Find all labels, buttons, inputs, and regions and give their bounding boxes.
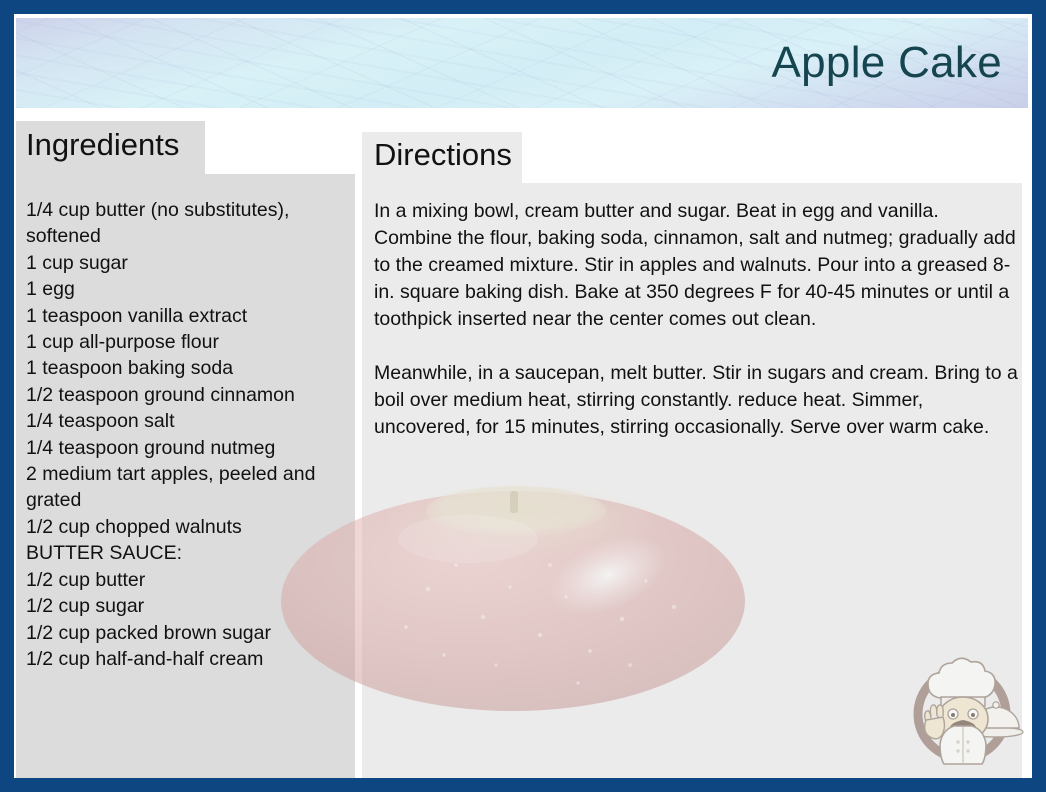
ingredient-item: 2 medium tart apples, peeled and grated [26,461,347,514]
recipe-card: Apple Cake Ingredients 1/4 cup butter (n… [0,0,1046,792]
directions-heading: Directions [374,137,512,173]
directions-panel: Directions In a mixing bowl, cream butte… [362,132,1022,792]
ingredients-header-notch [205,121,357,174]
direction-paragraph: Meanwhile, in a saucepan, melt butter. S… [374,360,1020,441]
header-banner: Apple Cake [16,18,1028,108]
ingredient-item: 1/2 cup butter [26,567,347,593]
directions-body: In a mixing bowl, cream butter and sugar… [374,198,1020,441]
directions-header-notch [522,132,1022,183]
ingredient-item: 1/2 teaspoon ground cinnamon [26,382,347,408]
ingredients-list: 1/4 cup butter (no substitutes), softene… [26,197,347,672]
ingredient-item: 1/2 cup packed brown sugar [26,620,347,646]
ingredient-item: BUTTER SAUCE: [26,540,347,566]
ingredient-item: 1/2 cup half-and-half cream [26,646,347,672]
ingredients-panel: Ingredients 1/4 cup butter (no substitut… [16,121,355,792]
ingredient-item: 1/2 cup chopped walnuts [26,514,347,540]
ingredient-item: 1 cup all-purpose flour [26,329,347,355]
ingredient-item: 1 cup sugar [26,250,347,276]
ingredient-item: 1 teaspoon baking soda [26,355,347,381]
ingredient-item: 1 egg [26,276,347,302]
page-title: Apple Cake [772,38,1002,88]
ingredients-heading: Ingredients [26,127,179,163]
ingredient-item: 1/4 teaspoon salt [26,408,347,434]
ingredient-item: 1/4 teaspoon ground nutmeg [26,435,347,461]
ingredient-item: 1/4 cup butter (no substitutes), softene… [26,197,347,250]
ingredient-item: 1/2 cup sugar [26,593,347,619]
direction-paragraph: In a mixing bowl, cream butter and sugar… [374,198,1020,333]
ingredient-item: 1 teaspoon vanilla extract [26,303,347,329]
